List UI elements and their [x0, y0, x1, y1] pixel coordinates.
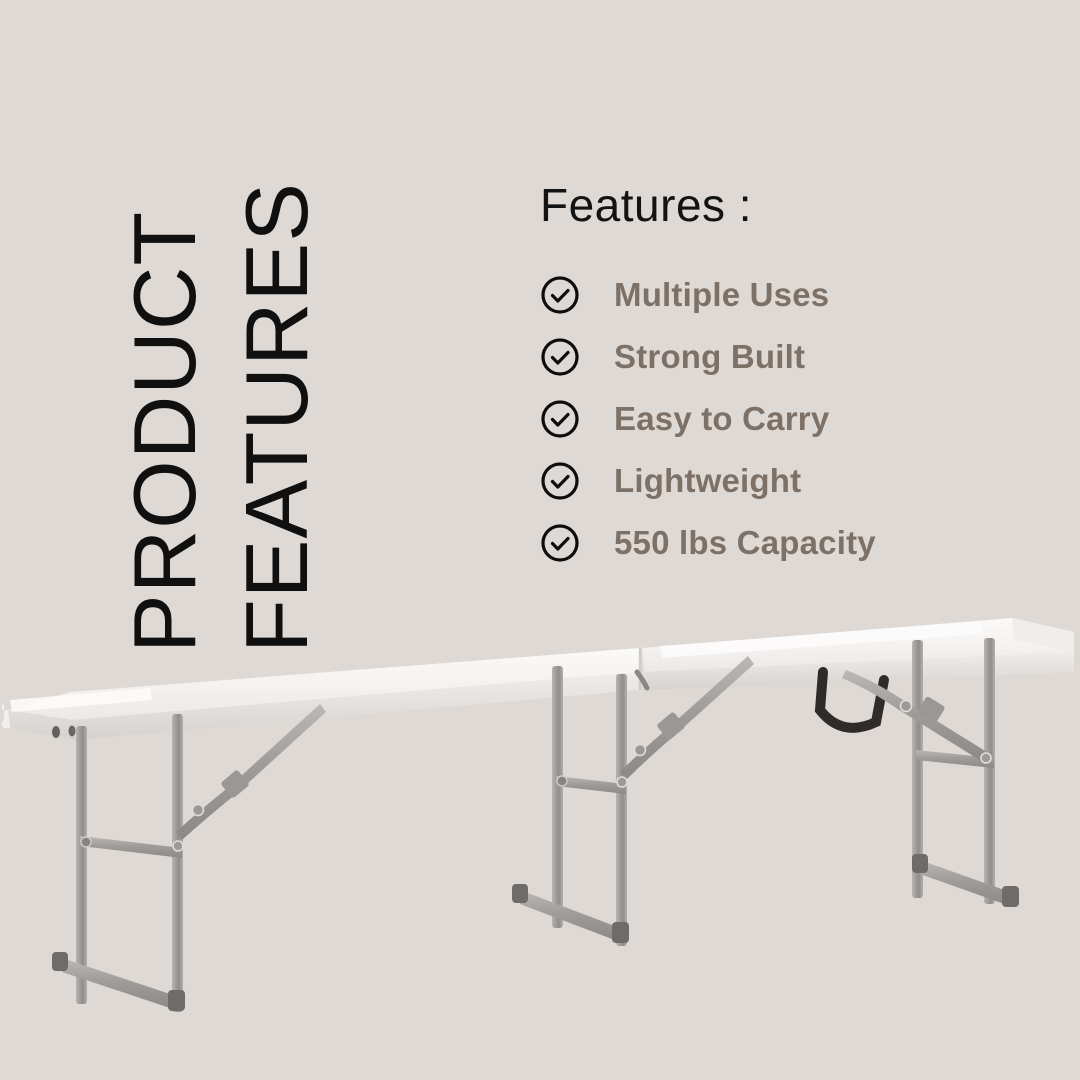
feature-label: 550 lbs Capacity: [614, 524, 876, 562]
tabletop-slot: [52, 726, 60, 738]
feature-item-strong-built: Strong Built: [540, 326, 1020, 388]
left-brace-lower-pivot: [173, 841, 183, 851]
check-circle-icon: [540, 275, 580, 315]
check-circle-icon: [540, 399, 580, 439]
left-foot-cap: [168, 990, 185, 1011]
right-brace-pivot: [901, 701, 912, 712]
center-foot-cap: [612, 922, 629, 943]
left-brace-pivot: [193, 805, 204, 816]
feature-label: Easy to Carry: [614, 400, 829, 438]
page-title: PRODUCT FEATURES: [0, 0, 420, 600]
feature-item-easy-to-carry: Easy to Carry: [540, 388, 1020, 450]
center-leg-rear-post: [552, 666, 563, 928]
feature-label: Strong Built: [614, 338, 805, 376]
right-brace-lower-pivot: [981, 753, 991, 763]
right-foot-cap: [1002, 886, 1019, 907]
center-brace-lower-pivot: [617, 777, 627, 787]
left-leg-rivet: [81, 837, 91, 847]
left-foot-cap: [52, 952, 68, 971]
infographic-page: PRODUCT FEATURES Features : Multiple Use…: [0, 0, 1080, 1080]
features-heading: Features :: [540, 178, 1020, 232]
check-circle-icon: [540, 461, 580, 501]
left-leg-rear-post: [76, 726, 87, 1004]
feature-item-multiple-uses: Multiple Uses: [540, 264, 1020, 326]
folding-bench-table-illustration: [0, 560, 1080, 1080]
right-leg-front-post: [984, 638, 995, 904]
check-circle-icon: [540, 523, 580, 563]
feature-label: Lightweight: [614, 462, 801, 500]
right-foot-cap: [912, 854, 928, 873]
left-leg-cross-brace: [80, 836, 182, 858]
center-foot-cap: [512, 884, 528, 903]
feature-item-lightweight: Lightweight: [540, 450, 1020, 512]
center-leg-front-post: [616, 674, 627, 946]
features-panel: Features : Multiple Uses Strong Built Ea…: [540, 178, 1020, 574]
check-circle-icon: [540, 337, 580, 377]
product-image: [0, 560, 1080, 1080]
center-brace-pivot: [635, 745, 646, 756]
right-foot-bar: [920, 860, 1010, 906]
feature-label: Multiple Uses: [614, 276, 829, 314]
center-leg-rivet: [557, 776, 567, 786]
tabletop-slot: [69, 726, 76, 737]
left-leg-front-post: [172, 714, 183, 1012]
center-foot-bar: [520, 890, 620, 942]
